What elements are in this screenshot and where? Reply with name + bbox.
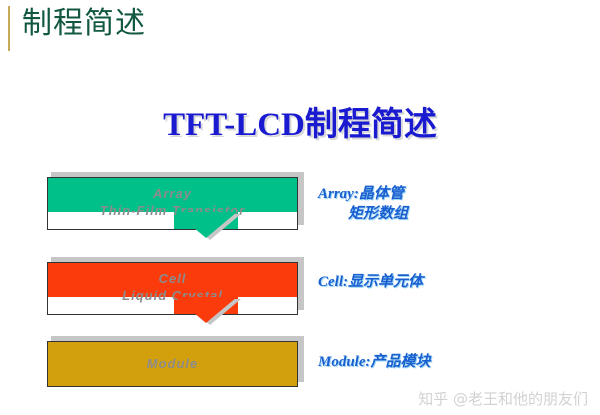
slide-title: TFT-LCD制程简述 (0, 104, 600, 146)
cell-annotation: Cell:显示单元体 (318, 272, 423, 292)
array-annotation-line1: Array:晶体管 (318, 186, 404, 202)
array-to-cell-arrow (175, 212, 237, 238)
slide-canvas: 制程简述 TFT-LCD制程简述 Array Thin-Film Transis… (0, 0, 600, 415)
module-annotation: Module:产品模块 (318, 352, 431, 372)
cell-to-module-arrow (175, 297, 237, 323)
cell-notch-right (238, 297, 297, 314)
module-annotation-line1: Module:产品模块 (318, 354, 431, 370)
cell-annotation-line1: Cell:显示单元体 (318, 274, 423, 290)
array-annotation-line2: 矩形数组 (318, 204, 408, 224)
module-box (47, 341, 298, 387)
watermark: 知乎 @老王和他的朋友们 (418, 389, 588, 409)
cell-notch-left (48, 297, 174, 314)
array-annotation: Array:晶体管 矩形数组 (318, 184, 408, 224)
array-notch-right (238, 212, 297, 229)
header-accent-rule (8, 6, 10, 51)
page-title: 制程简述 (22, 2, 146, 46)
array-notch-left (48, 212, 174, 229)
